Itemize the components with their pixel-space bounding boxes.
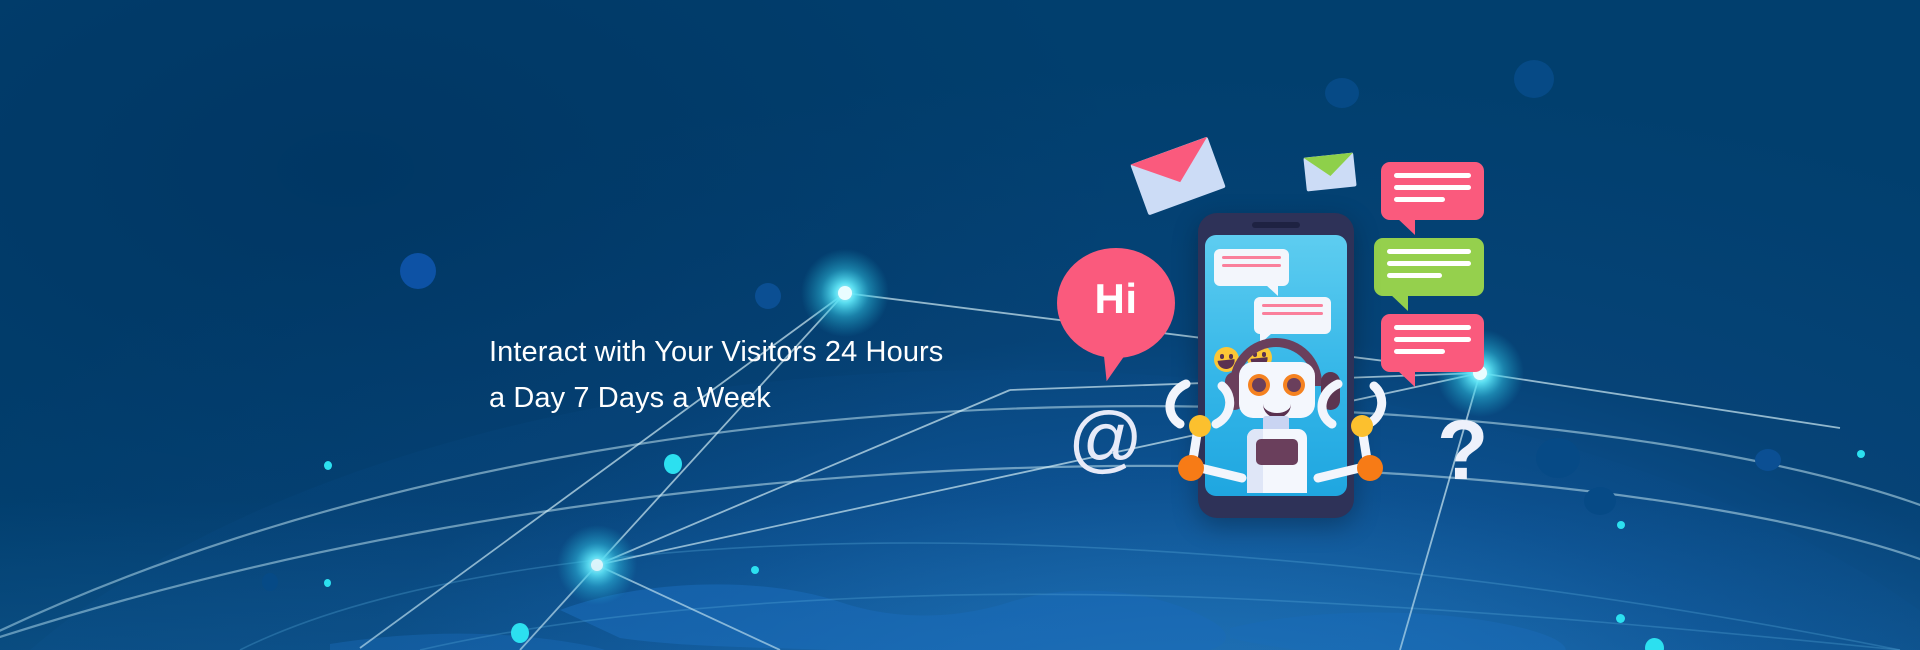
chat-bubble-green — [1374, 238, 1484, 296]
hi-speech-bubble: Hi — [1057, 248, 1175, 358]
decor-dot — [1584, 487, 1616, 515]
robot-joint-shoulder-left — [1189, 415, 1211, 437]
screen-chat-line — [1262, 304, 1323, 307]
decor-dot-cyan — [751, 566, 759, 574]
robot-joint-shoulder-right — [1351, 415, 1373, 437]
screen-chat-line — [1222, 264, 1281, 267]
decor-dot-cyan — [324, 579, 331, 587]
decor-dot-cyan — [1617, 521, 1625, 529]
robot-arms — [1150, 370, 1410, 530]
chat-bubble-pink-top — [1381, 162, 1484, 220]
chat-text-line — [1387, 273, 1442, 278]
envelope-green-icon — [1303, 152, 1356, 191]
bubble-tail — [1266, 285, 1278, 296]
at-symbol-icon: @ — [1068, 402, 1143, 476]
decor-dot — [400, 253, 436, 289]
chat-text-line — [1394, 173, 1471, 178]
bubble-tail — [1397, 218, 1415, 235]
question-mark-icon: ? — [1437, 408, 1488, 492]
page-title: Interact with Your Visitors 24 Hours a D… — [489, 329, 1049, 421]
envelope-flap — [1303, 152, 1356, 191]
decor-dot — [755, 283, 781, 309]
screen-chat-line — [1262, 312, 1323, 315]
decor-dot-cyan — [664, 454, 682, 474]
screen-chat-line — [1222, 256, 1281, 259]
decor-dot — [1325, 78, 1359, 108]
chat-bubble-pink-bottom — [1381, 314, 1484, 372]
phone-speaker-notch — [1252, 222, 1300, 228]
chat-text-line — [1394, 185, 1471, 190]
decor-dot — [1536, 438, 1580, 478]
decor-dot-cyan — [324, 461, 332, 470]
decor-dot-cyan — [1857, 450, 1865, 458]
chat-text-line — [1387, 261, 1471, 266]
bubble-tail — [1104, 349, 1133, 382]
globe-network-graphic — [0, 230, 1920, 650]
hi-bubble-label: Hi — [1057, 275, 1175, 323]
chat-text-line — [1394, 325, 1471, 330]
decor-dot-cyan — [1616, 614, 1625, 623]
hero-banner: Interact with Your Visitors 24 Hours a D… — [0, 0, 1920, 650]
globe-svg — [0, 230, 1920, 650]
robot-joint-elbow-left — [1178, 455, 1204, 481]
chat-text-line — [1387, 249, 1471, 254]
chat-text-line — [1394, 349, 1445, 354]
decor-dot — [1755, 449, 1781, 471]
bubble-tail — [1390, 294, 1408, 311]
decor-dot-cyan — [511, 623, 529, 643]
decor-dot — [262, 573, 278, 591]
robot-joint-elbow-right — [1357, 455, 1383, 481]
chat-text-line — [1394, 337, 1471, 342]
screen-chat-bubble-1 — [1214, 249, 1289, 286]
decor-dot — [1514, 60, 1554, 98]
screen-chat-bubble-2 — [1254, 297, 1331, 334]
chat-text-line — [1394, 197, 1445, 202]
